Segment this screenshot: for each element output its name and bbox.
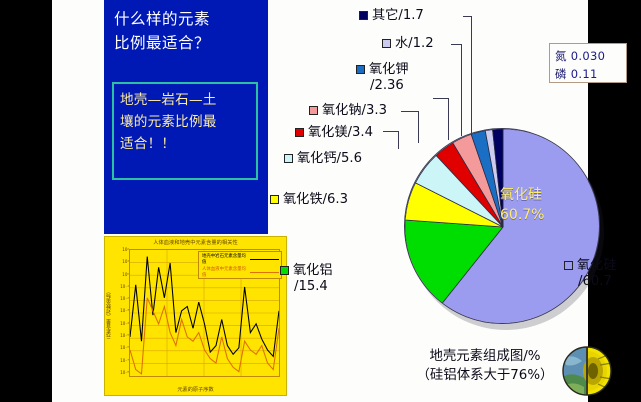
leader-line-k2o-h — [433, 98, 449, 99]
legend-swatch-sio2 — [564, 261, 573, 270]
minichart-x-axis-label: 元素的原子序数 — [105, 386, 286, 393]
minichart-y-tick: 10¹ — [122, 259, 129, 264]
blood-crust-correlation-chart: 人体血液和地壳中元素含量的相关性 元素含量（对数坐标） 10²10¹10⁰10⁻… — [104, 236, 287, 396]
nutrient-value-phosphorus: 0.11 — [571, 67, 598, 81]
minichart-y-tick: 10⁻⁵ — [120, 333, 129, 338]
pie-label-al2o3-text: 氧化铝 — [293, 263, 333, 278]
pie-label-water-text: 水/1.2 — [395, 36, 434, 51]
panel-heading-line-1: 什么样的元素 — [114, 8, 264, 32]
slide-screenshot: 什么样的元素 比例最适合？ 地壳—岩石—土 壤的元素比例最 适合！！ 人体血液和… — [0, 0, 641, 402]
highlight-box: 地壳—岩石—土 壤的元素比例最 适合！！ — [112, 82, 258, 180]
legend-swatch-water — [382, 39, 391, 48]
pie-label-mgo-text: 氧化镁/3.4 — [308, 125, 373, 140]
pie-label-na2o-text: 氧化钠/3.3 — [322, 103, 387, 118]
pie-label-other-text: 其它/1.7 — [372, 8, 424, 23]
highlight-line-2: 壤的元素比例最 — [120, 112, 254, 134]
pie-label-sio2: 氧化硅 /60.7 — [564, 258, 617, 290]
pie-label-other: 其它/1.7 — [359, 8, 424, 25]
minichart-y-tick: 10⁻³ — [120, 308, 129, 313]
highlight-line-3: 适合！！ — [120, 134, 254, 156]
nutrient-row-phosphorus: 磷 0.11 — [555, 65, 626, 83]
minichart-legend-item-blood: 人体血液中元素含量均值 — [202, 267, 279, 278]
pie-label-k2o: 氧化钾 /2.36 — [356, 62, 409, 94]
leader-line-k2o — [448, 98, 449, 140]
nutrient-value-nitrogen: 0.030 — [571, 49, 605, 63]
minichart-y-tick: 10⁻⁶ — [120, 345, 129, 350]
pie-label-na2o: 氧化钠/3.3 — [309, 103, 387, 120]
legend-swatch-other — [359, 11, 368, 20]
pie-inner-name: 氧化硅 — [500, 186, 592, 206]
slide-body: 什么样的元素 比例最适合？ 地壳—岩石—土 壤的元素比例最 适合！！ 人体血液和… — [52, 0, 588, 402]
pie-label-sio2-text: 氧化硅 — [577, 258, 617, 273]
minichart-y-tick: 10⁻⁴ — [120, 321, 129, 326]
legend-swatch-k2o — [356, 65, 365, 74]
leader-line-mgo — [398, 131, 399, 149]
leader-line-other-h — [463, 16, 472, 17]
chart-caption: 地壳元素组成图/% （硅铝体系大于76%） — [410, 347, 560, 385]
leader-line-mgo-h — [383, 131, 399, 132]
blue-text-panel: 什么样的元素 比例最适合？ 地壳—岩石—土 壤的元素比例最 适合！！ — [104, 0, 268, 234]
minichart-y-tick: 10⁻² — [120, 296, 129, 301]
pie-label-feo: 氧化铁/6.3 — [270, 192, 348, 209]
pie-svg — [405, 129, 600, 324]
minichart-legend-line-crust — [250, 259, 279, 260]
highlight-line-1: 地壳—岩石—土 — [120, 90, 254, 112]
minichart-y-tick: 10⁰ — [122, 272, 129, 277]
minichart-legend: 地壳中岩石元素含量均值 人体血液中元素含量均值 — [198, 251, 282, 279]
panel-heading: 什么样的元素 比例最适合？ — [114, 8, 264, 55]
panel-heading-line-2: 比例最适合？ — [114, 32, 264, 56]
legend-swatch-cao — [284, 154, 293, 163]
pie-label-al2o3: 氧化铝 /15.4 — [280, 263, 333, 295]
nutrient-element-nitrogen: 氮 — [555, 49, 567, 63]
minichart-y-tick: 10⁻⁷ — [120, 358, 129, 363]
earth-layers-icon — [560, 345, 614, 397]
pie-label-sio2-value: /60.7 — [578, 274, 617, 290]
chart-caption-line-1: 地壳元素组成图/% — [410, 347, 560, 366]
minichart-legend-label-blood: 人体血液中元素含量均值 — [202, 267, 248, 278]
pie-label-k2o-value: /2.36 — [370, 78, 409, 94]
pie-largest-slice-label: 氧化硅 60.7% — [500, 186, 592, 226]
crust-composition-pie-chart: 氧化硅 60.7% — [404, 128, 600, 324]
minichart-y-tick: 10⁻¹ — [120, 284, 129, 289]
leader-line-other — [471, 16, 472, 134]
minichart-y-tick: 10² — [122, 247, 129, 252]
leader-line-na2o — [418, 111, 419, 143]
minichart-title: 人体血液和地壳中元素含量的相关性 — [105, 239, 286, 246]
nutrient-element-phosphorus: 磷 — [555, 67, 567, 81]
minichart-series-1 — [130, 298, 279, 374]
leader-line-water-h — [451, 44, 462, 45]
legend-swatch-feo — [270, 195, 279, 204]
pie-label-water: 水/1.2 — [382, 36, 434, 53]
minichart-y-tick: 10⁻⁸ — [120, 370, 129, 375]
legend-swatch-mgo — [295, 128, 304, 137]
chart-caption-line-2: （硅铝体系大于76%） — [410, 366, 560, 385]
minichart-legend-item-crust: 地壳中岩石元素含量均值 — [202, 254, 279, 265]
highlight-box-text: 地壳—岩石—土 壤的元素比例最 适合！！ — [120, 90, 254, 155]
pie-label-al2o3-value: /15.4 — [294, 279, 333, 295]
pie-label-cao: 氧化钙/5.6 — [284, 151, 362, 168]
minichart-legend-line-blood — [250, 272, 279, 273]
minichart-y-ticks: 10²10¹10⁰10⁻¹10⁻²10⁻³10⁻⁴10⁻⁵10⁻⁶10⁻⁷10⁻… — [115, 247, 129, 375]
legend-swatch-na2o — [309, 106, 318, 115]
nutrient-row-nitrogen: 氮 0.030 — [555, 47, 626, 65]
legend-swatch-al2o3 — [280, 266, 289, 275]
pie-disc — [404, 128, 600, 324]
pie-label-feo-text: 氧化铁/6.3 — [283, 192, 348, 207]
leader-line-water — [461, 44, 462, 136]
nutrient-value-box: 氮 0.030 磷 0.11 — [549, 43, 627, 83]
pie-label-mgo: 氧化镁/3.4 — [295, 125, 373, 142]
pie-label-cao-text: 氧化钙/5.6 — [297, 151, 362, 166]
pie-inner-value: 60.7% — [500, 206, 592, 226]
pie-label-k2o-text: 氧化钾 — [369, 62, 409, 77]
minichart-legend-label-crust: 地壳中岩石元素含量均值 — [202, 254, 248, 265]
leader-line-na2o-h — [401, 111, 419, 112]
